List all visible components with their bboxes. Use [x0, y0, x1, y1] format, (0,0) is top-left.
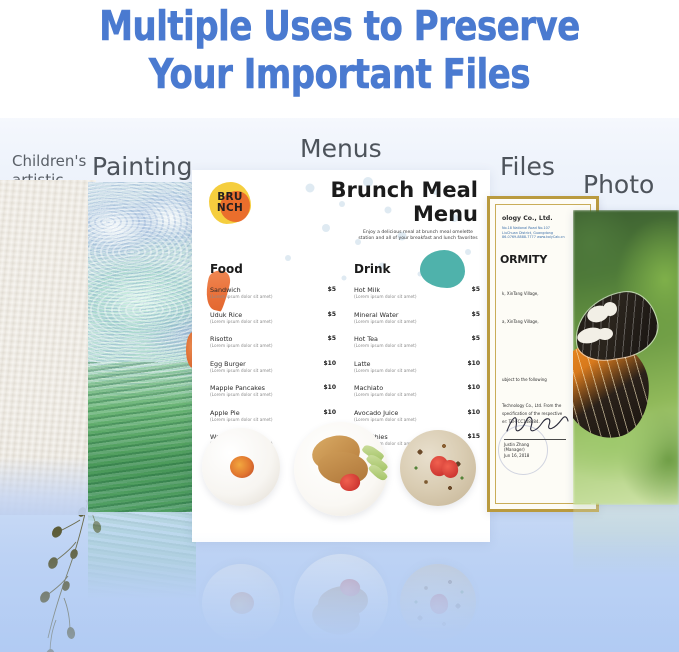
menu-item-description: (Lorem ipsum dolor sit amet) [210, 368, 336, 375]
menu-item: Risotto(Lorem ipsum dolor sit amet)$5 [210, 335, 336, 350]
menu-item-price: $5 [328, 311, 336, 318]
menu-item: Latte(Lorem ipsum dolor sit amet)$10 [354, 360, 480, 375]
menu-item-name: Avocado Juice [354, 409, 480, 417]
menu-item-price: $10 [323, 409, 336, 416]
menu-item-description: (Lorem ipsum dolor sit amet) [354, 343, 480, 350]
caption-files: Files [500, 152, 555, 181]
photo-reflection-layer [573, 505, 679, 575]
painting-grass-layer [88, 362, 196, 512]
menu-drink-heading: Drink [354, 262, 480, 276]
menu-item: Hot Tea(Lorem ipsum dolor sit amet)$5 [354, 335, 480, 350]
painting-reflection-layer [88, 512, 196, 598]
page-title-line-2: Your Important Files [27, 50, 652, 98]
butterfly-photograph[interactable] [573, 210, 679, 505]
menu-item-name: Mineral Water [354, 311, 480, 319]
reflection-oatmeal-bowl [202, 564, 280, 642]
childrens-painting-artwork [88, 182, 196, 512]
menu-item: Sandwich(Lorem ipsum dolor sit amet)$5 [210, 286, 336, 301]
menu-item-price: $10 [467, 360, 480, 367]
brunch-menu-card[interactable]: BRU NCH Brunch Meal Menu Enjoy a delicio… [192, 170, 490, 542]
menu-item-description: (Lorem ipsum dolor sit amet) [354, 294, 480, 301]
menu-item-price: $5 [328, 335, 336, 342]
menu-item-name: Hot Milk [354, 286, 480, 294]
photo-reflection [573, 505, 679, 575]
menu-item-description: (Lorem ipsum dolor sit amet) [354, 392, 480, 399]
menu-item-price: $10 [467, 384, 480, 391]
menu-item-name: Apple Pie [210, 409, 336, 417]
food-photo-strip [192, 418, 490, 542]
menu-item-price: $10 [323, 360, 336, 367]
menu-item-price: $5 [472, 335, 480, 342]
caption-painting: Painting [92, 152, 193, 181]
certificate-signer-block: Justin Zhang (Manager) Jun 16, 2018 [504, 442, 529, 458]
menu-item-price: $10 [323, 384, 336, 391]
textured-paper-sheet [0, 180, 96, 515]
menu-item-name: Hot Tea [354, 335, 480, 343]
menu-item-price: $10 [467, 409, 480, 416]
signature-line [504, 439, 566, 440]
menu-item: Machiato(Lorem ipsum dolor sit amet)$10 [354, 384, 480, 399]
page-title: Multiple Uses to Preserve Your Important… [0, 0, 679, 98]
menu-item: Mineral Water(Lorem ipsum dolor sit amet… [354, 311, 480, 326]
menu-item: Uduk Rice(Lorem ipsum dolor sit amet)$5 [210, 311, 336, 326]
brunch-logo-text: BRU NCH [209, 182, 251, 224]
poster-stage: Multiple Uses to Preserve Your Important… [0, 0, 679, 652]
menu-item-description: (Lorem ipsum dolor sit amet) [210, 319, 336, 326]
menu-item-price: $5 [328, 286, 336, 293]
caption-menus: Menus [300, 134, 382, 163]
menu-item-description: (Lorem ipsum dolor sit amet) [210, 343, 336, 350]
menu-item: Mapple Pancakes(Lorem ipsum dolor sit am… [210, 384, 336, 399]
brunch-logo-line-2: NCH [217, 203, 243, 214]
menu-item-name: Latte [354, 360, 480, 368]
menu-item-name: Egg Burger [210, 360, 336, 368]
menu-item-name: Risotto [210, 335, 336, 343]
menu-item-name: Machiato [354, 384, 480, 392]
menu-item-description: (Lorem ipsum dolor sit amet) [210, 392, 336, 399]
menu-subtitle: Enjoy a delicious meal at brunch meal om… [358, 230, 478, 242]
menu-title: Brunch Meal Menu [298, 178, 478, 226]
menu-item-name: Mapple Pancakes [210, 384, 336, 392]
menu-item-description: (Lorem ipsum dolor sit amet) [210, 294, 336, 301]
menu-food-heading: Food [210, 262, 336, 276]
menu-item-description: (Lorem ipsum dolor sit amet) [354, 319, 480, 326]
brunch-logo: BRU NCH [209, 182, 251, 224]
certificate-sign-date: Jun 16, 2018 [504, 453, 529, 458]
oatmeal-bowl-photo [202, 428, 280, 506]
menu-item-price: $5 [472, 311, 480, 318]
menu-item-name: Sandwich [210, 286, 336, 294]
menu-item-description: (Lorem ipsum dolor sit amet) [354, 368, 480, 375]
menu-item: Egg Burger(Lorem ipsum dolor sit amet)$1… [210, 360, 336, 375]
menu-card-reflection-layer [192, 542, 490, 646]
menu-item-name: Uduk Rice [210, 311, 336, 319]
menu-item-price: $5 [472, 286, 480, 293]
menu-card-reflection [192, 542, 490, 646]
caption-photo: Photo [583, 170, 654, 199]
menu-item: Hot Milk(Lorem ipsum dolor sit amet)$5 [354, 286, 480, 301]
painting-reflection [88, 512, 196, 598]
page-title-line-1: Multiple Uses to Preserve [27, 2, 652, 50]
